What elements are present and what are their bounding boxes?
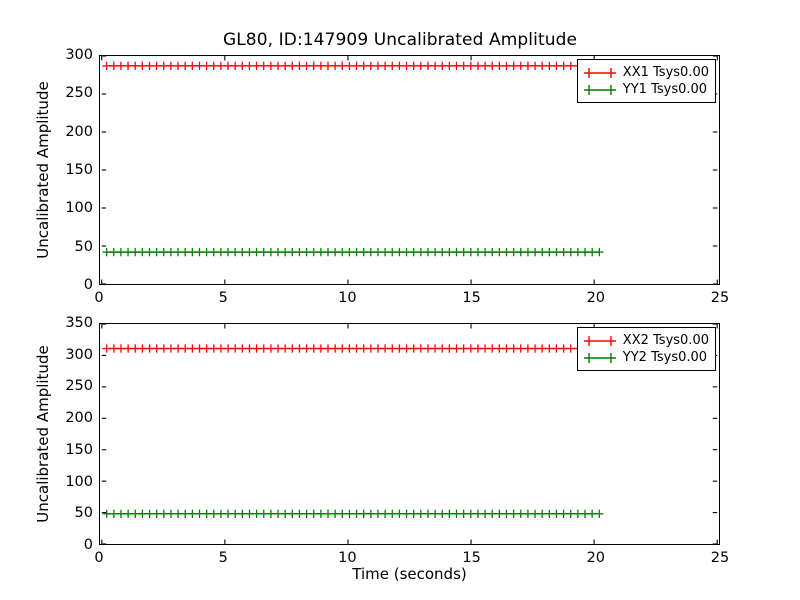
- series-xx: [103, 344, 604, 352]
- legend-swatch-yy1: [583, 83, 617, 97]
- series-yy: [102, 248, 603, 256]
- series-xx: [102, 62, 603, 70]
- legend-swatch-xx2: [583, 334, 617, 348]
- ytick-label: 250: [37, 378, 93, 394]
- legend-top: XX1 Tsys0.00 YY1 Tsys0.00: [577, 59, 716, 103]
- ytick-label: 300: [37, 347, 93, 363]
- xtick-label: 15: [462, 290, 480, 306]
- plot-axes-bottom: XX2 Tsys0.00 YY2 Tsys0.00: [99, 323, 720, 545]
- legend-label-xx2: XX2 Tsys0.00: [623, 334, 709, 347]
- xtick-label: 5: [219, 290, 228, 306]
- xtick-label: 0: [94, 550, 103, 566]
- legend-swatch-xx1: [583, 66, 617, 80]
- ytick-label: 200: [37, 410, 93, 426]
- figure-canvas: GL80, ID:147909 Uncalibrated Amplitude X…: [0, 0, 800, 600]
- ytick-label: 150: [37, 162, 93, 178]
- legend-label-xx1: XX1 Tsys0.00: [623, 66, 709, 79]
- ytick-label: 100: [37, 474, 93, 490]
- xtick-label: 0: [94, 290, 103, 306]
- xtick-label: 25: [711, 550, 729, 566]
- legend-bottom: XX2 Tsys0.00 YY2 Tsys0.00: [577, 327, 716, 371]
- xtick-label: 25: [711, 290, 729, 306]
- ytick-label: 0: [37, 277, 93, 293]
- legend-label-yy2: YY2 Tsys0.00: [623, 351, 707, 364]
- plot-axes-top: XX1 Tsys0.00 YY1 Tsys0.00: [99, 55, 720, 285]
- x-axis-label: Time (seconds): [99, 565, 720, 583]
- ytick-label: 200: [37, 124, 93, 140]
- ytick-label: 0: [37, 537, 93, 553]
- xtick-label: 10: [338, 290, 356, 306]
- xtick-label: 15: [462, 550, 480, 566]
- xtick-label: 10: [338, 550, 356, 566]
- ytick-label: 150: [37, 442, 93, 458]
- ytick-label: 50: [37, 239, 93, 255]
- legend-entry-yy1: YY1 Tsys0.00: [583, 81, 709, 98]
- legend-entry-yy2: YY2 Tsys0.00: [583, 349, 709, 366]
- xtick-label: 5: [219, 550, 228, 566]
- xtick-label: 20: [587, 550, 605, 566]
- legend-label-yy1: YY1 Tsys0.00: [623, 83, 707, 96]
- legend-entry-xx1: XX1 Tsys0.00: [583, 64, 709, 81]
- legend-swatch-yy2: [583, 351, 617, 365]
- ytick-label: 300: [37, 47, 93, 63]
- ytick-label: 100: [37, 200, 93, 216]
- figure-title: GL80, ID:147909 Uncalibrated Amplitude: [0, 30, 800, 50]
- series-yy: [103, 510, 604, 518]
- xtick-label: 20: [587, 290, 605, 306]
- legend-entry-xx2: XX2 Tsys0.00: [583, 332, 709, 349]
- ytick-label: 50: [37, 505, 93, 521]
- ytick-label: 250: [37, 85, 93, 101]
- ytick-label: 350: [37, 315, 93, 331]
